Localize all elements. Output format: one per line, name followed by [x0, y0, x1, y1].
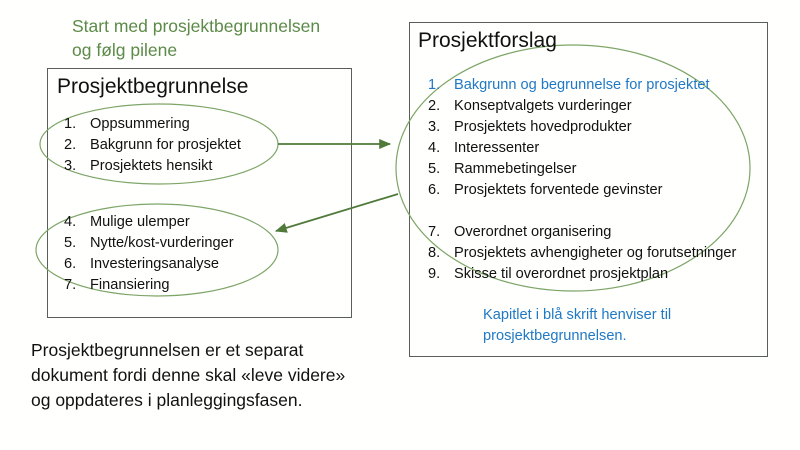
list-item: 4. Mulige ulemper — [64, 212, 234, 233]
left-list-group-one: 1. Oppsummering 2. Bakgrunn for prosjekt… — [64, 114, 241, 177]
blue-legend-note: Kapitlet i blå skrift henviser til prosj… — [483, 305, 753, 347]
list-item: 5. Nytte/kost-vurderinger — [64, 233, 234, 254]
list-item: 4. Interessenter — [428, 138, 736, 159]
list-gap — [428, 201, 736, 222]
list-item-label: Konseptvalgets vurderinger — [454, 96, 632, 117]
list-item: 3. Prosjektets hovedprodukter — [428, 117, 736, 138]
list-item-number: 4. — [64, 212, 90, 233]
list-item-label: Rammebetingelser — [454, 159, 576, 180]
list-item: 7. Overordnet organisering — [428, 222, 736, 243]
right-panel-title: Prosjektforslag — [418, 28, 557, 54]
list-item-label: Mulige ulemper — [90, 212, 190, 233]
list-item-label: Investeringsanalyse — [90, 254, 219, 275]
list-item-label: Prosjektets forventede gevinster — [454, 180, 662, 201]
list-item-number: 2. — [428, 96, 454, 117]
list-item: 9. Skisse til overordnet prosjektplan — [428, 264, 736, 285]
list-item-label: Bakgrunn og begrunnelse for prosjektet — [454, 75, 710, 96]
list-item-number: 5. — [428, 159, 454, 180]
list-item: 5. Rammebetingelser — [428, 159, 736, 180]
slide-canvas: Start med prosjektbegrunnelsen og følg p… — [0, 0, 800, 450]
list-item: 6. Investeringsanalyse — [64, 254, 234, 275]
list-item-number: 1. — [64, 114, 90, 135]
list-item-number: 8. — [428, 243, 454, 264]
list-item-label: Prosjektets avhengigheter og forutsetnin… — [454, 243, 736, 264]
list-item-number: 3. — [64, 156, 90, 177]
list-item-number: 7. — [64, 275, 90, 296]
list-item: 1. Oppsummering — [64, 114, 241, 135]
bottom-caption: Prosjektbegrunnelsen er et separat dokum… — [31, 338, 411, 413]
list-item-label: Interessenter — [454, 138, 539, 159]
left-panel-title: Prosjektbegrunnelse — [57, 74, 248, 100]
list-item-label: Finansiering — [90, 275, 170, 296]
list-item-label: Prosjektets hensikt — [90, 156, 212, 177]
list-item-number: 2. — [64, 135, 90, 156]
list-item-number: 6. — [428, 180, 454, 201]
list-item-number: 3. — [428, 117, 454, 138]
list-item-number: 6. — [64, 254, 90, 275]
list-item-label: Prosjektets hovedprodukter — [454, 117, 632, 138]
list-item: 8. Prosjektets avhengigheter og forutset… — [428, 243, 736, 264]
list-item: 6. Prosjektets forventede gevinster — [428, 180, 736, 201]
list-item: 2. Bakgrunn for prosjektet — [64, 135, 241, 156]
list-item-number: 4. — [428, 138, 454, 159]
right-panel-list: 1. Bakgrunn og begrunnelse for prosjekte… — [428, 75, 736, 285]
list-item: 2. Konseptvalgets vurderinger — [428, 96, 736, 117]
list-item: 3. Prosjektets hensikt — [64, 156, 241, 177]
intro-heading: Start med prosjektbegrunnelsen og følg p… — [72, 14, 392, 62]
list-item-number: 5. — [64, 233, 90, 254]
list-item: 1. Bakgrunn og begrunnelse for prosjekte… — [428, 75, 736, 96]
list-item: 7. Finansiering — [64, 275, 234, 296]
list-item-number: 1. — [428, 75, 454, 96]
list-item-number: 9. — [428, 264, 454, 285]
list-item-label: Oppsummering — [90, 114, 190, 135]
list-item-number: 7. — [428, 222, 454, 243]
left-list-group-two: 4. Mulige ulemper 5. Nytte/kost-vurderin… — [64, 212, 234, 296]
list-item-label: Skisse til overordnet prosjektplan — [454, 264, 668, 285]
list-item-label: Bakgrunn for prosjektet — [90, 135, 241, 156]
list-item-label: Nytte/kost-vurderinger — [90, 233, 234, 254]
list-item-label: Overordnet organisering — [454, 222, 611, 243]
